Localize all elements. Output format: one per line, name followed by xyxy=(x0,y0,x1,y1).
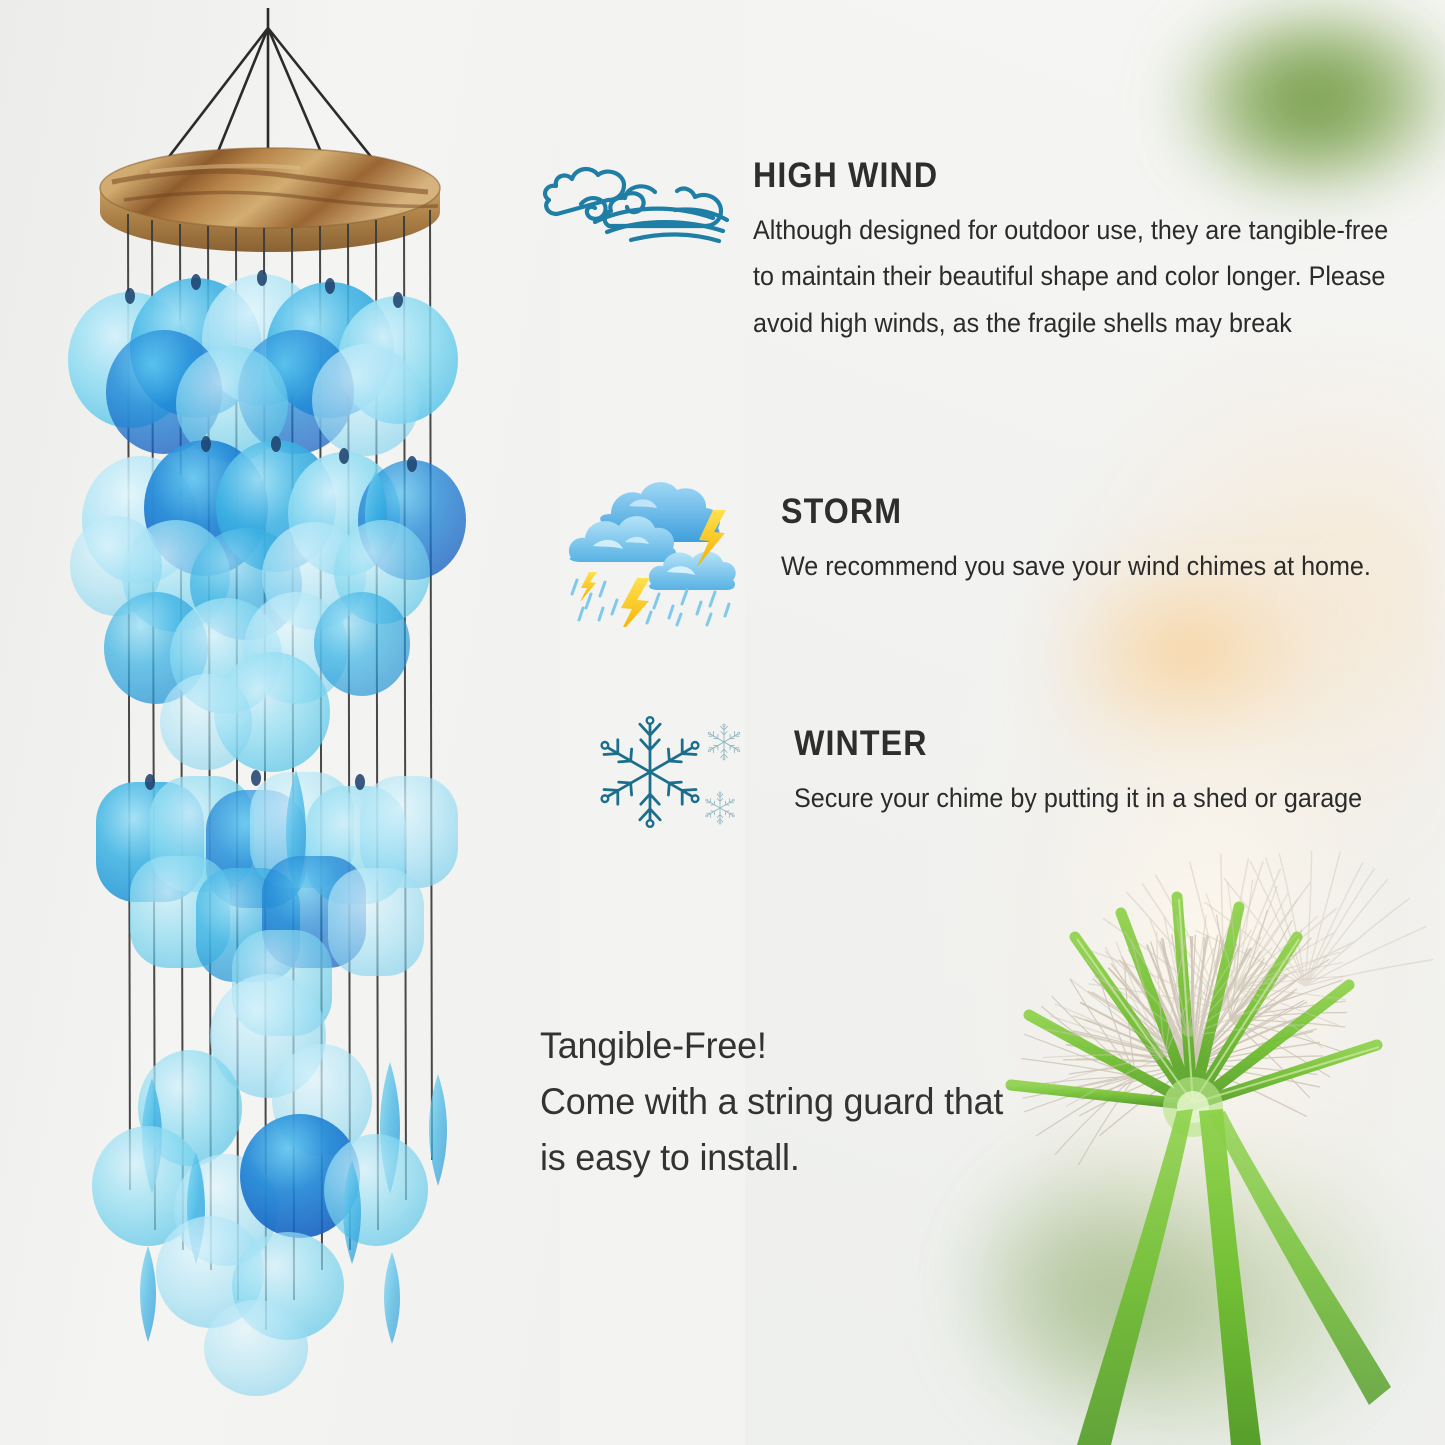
infographic-page: HIGH WIND Although designed for outdoor … xyxy=(0,0,1445,1445)
wind-cloud-icon xyxy=(535,152,745,252)
shell-tier-5 xyxy=(92,974,447,1396)
storm-cloud-rain-lightning-icon xyxy=(563,462,743,627)
wooden-top-disc xyxy=(100,148,440,252)
feature-body: WINTER Secure your chime by putting it i… xyxy=(794,708,1445,821)
feature-title-high-wind: HIGH WIND xyxy=(753,156,1397,196)
feature-body: HIGH WIND Although designed for outdoor … xyxy=(753,152,1445,346)
feature-text-storm: We recommend you save your wind chimes a… xyxy=(781,543,1376,589)
feature-storm: STORM We recommend you save your wind ch… xyxy=(563,462,1443,627)
tagline-line-2: Come with a string guard that xyxy=(540,1074,1141,1130)
tagline-block: Tangible-Free! Come with a string guard … xyxy=(540,1018,1160,1187)
shell-tier-3 xyxy=(104,592,410,772)
product-photo-wind-chime xyxy=(0,0,540,1445)
feature-title-storm: STORM xyxy=(781,492,1390,532)
snowflake-icon xyxy=(592,708,752,838)
feature-title-winter: WINTER xyxy=(794,724,1399,764)
feature-high-wind: HIGH WIND Although designed for outdoor … xyxy=(535,152,1425,346)
feature-winter: WINTER Secure your chime by putting it i… xyxy=(592,708,1445,838)
dandelion-photo xyxy=(925,545,1445,1445)
feature-body: STORM We recommend you save your wind ch… xyxy=(781,462,1443,589)
tagline-line-1: Tangible-Free! xyxy=(540,1018,1141,1074)
feature-text-winter: Secure your chime by putting it in a she… xyxy=(794,775,1389,821)
feature-text-high-wind: Although designed for outdoor use, they … xyxy=(753,207,1404,346)
tagline-line-3: is easy to install. xyxy=(540,1130,1141,1186)
